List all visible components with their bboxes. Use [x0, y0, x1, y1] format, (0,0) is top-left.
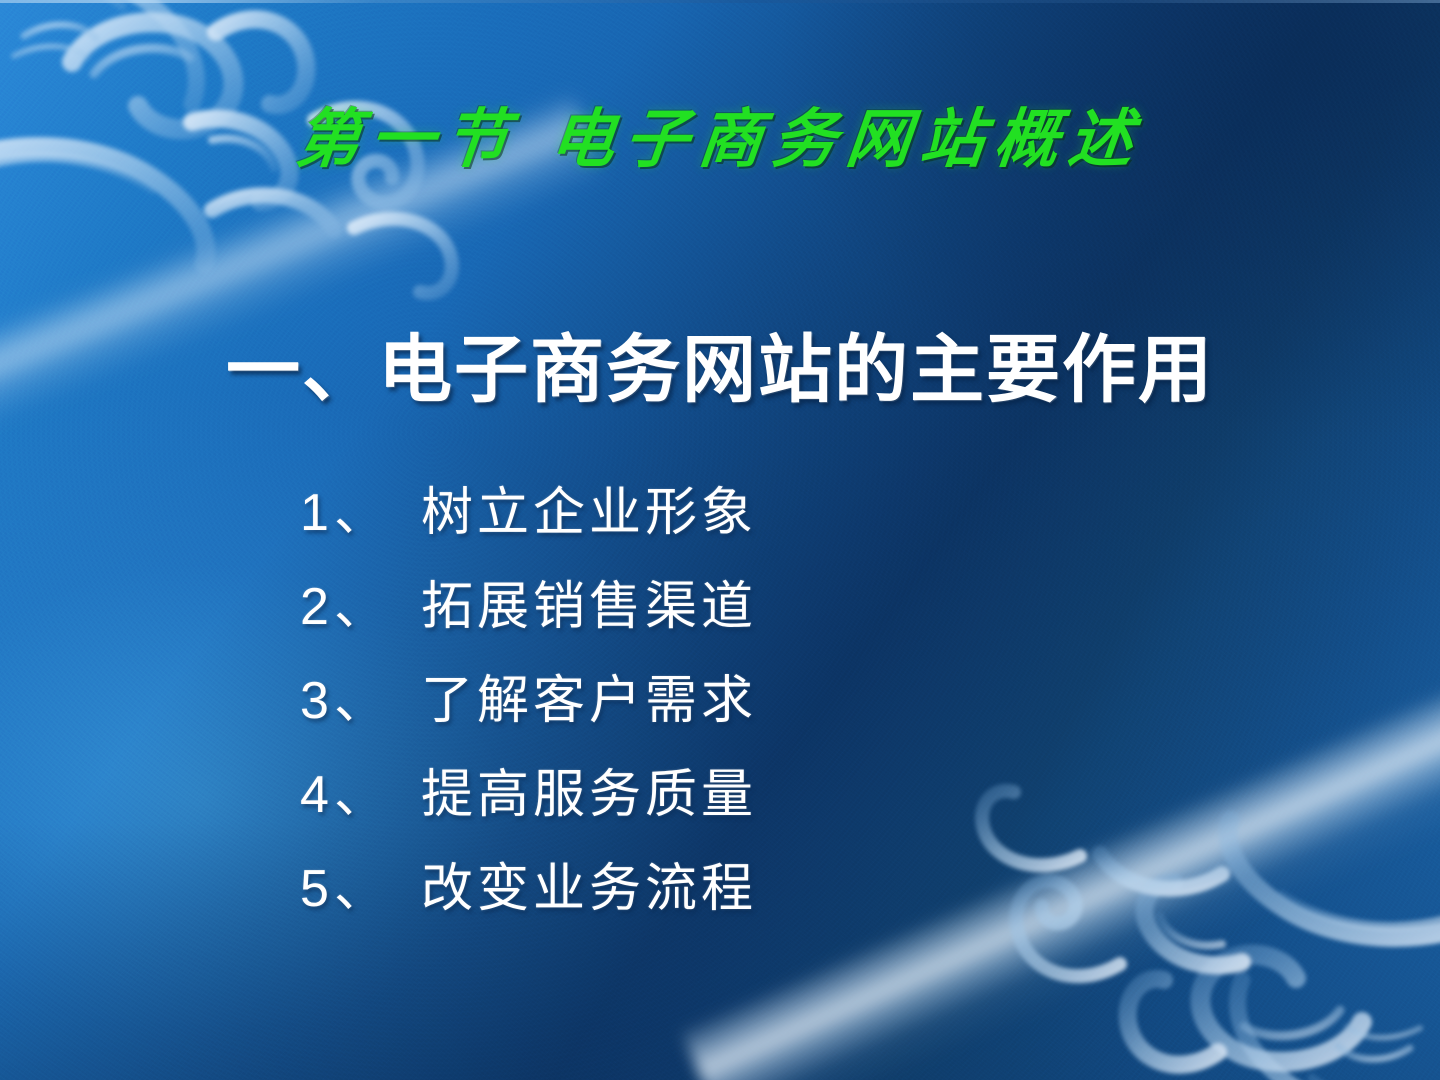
list-item-number: 1: [300, 483, 334, 543]
list-item: 1 、 树立企业形象: [300, 470, 1060, 564]
list-item: 4 、 提高服务质量: [300, 752, 1060, 846]
list-item-number: 5: [300, 859, 334, 919]
list-item-number: 2: [300, 577, 334, 637]
list-item-separator: 、: [334, 470, 421, 545]
list-item-number: 3: [300, 671, 334, 731]
slide-title: 第一节 电子商务网站概述: [0, 88, 1440, 180]
list-item: 5 、 改变业务流程: [300, 846, 1060, 940]
slide-content: 第一节 电子商务网站概述 一、电子商务网站的主要作用 1 、 树立企业形象 2 …: [0, 0, 1440, 1080]
list-item-number: 4: [300, 765, 334, 825]
list-item-label: 改变业务流程: [421, 846, 757, 921]
list-item-label: 拓展销售渠道: [421, 564, 757, 639]
presentation-slide: 第一节 电子商务网站概述 一、电子商务网站的主要作用 1 、 树立企业形象 2 …: [0, 0, 1440, 1080]
list-item-label: 提高服务质量: [421, 752, 757, 827]
list-item-separator: 、: [334, 564, 421, 639]
list-item-label: 了解客户需求: [421, 658, 757, 733]
list-item-separator: 、: [334, 846, 421, 921]
list-item-separator: 、: [334, 752, 421, 827]
bullet-list: 1 、 树立企业形象 2 、 拓展销售渠道 3 、 了解客户需求 4 、 提高服…: [300, 470, 1060, 940]
list-item-separator: 、: [334, 658, 421, 733]
list-item: 2 、 拓展销售渠道: [300, 564, 1060, 658]
section-heading: 一、电子商务网站的主要作用: [0, 310, 1440, 417]
list-item: 3 、 了解客户需求: [300, 658, 1060, 752]
list-item-label: 树立企业形象: [421, 470, 757, 545]
